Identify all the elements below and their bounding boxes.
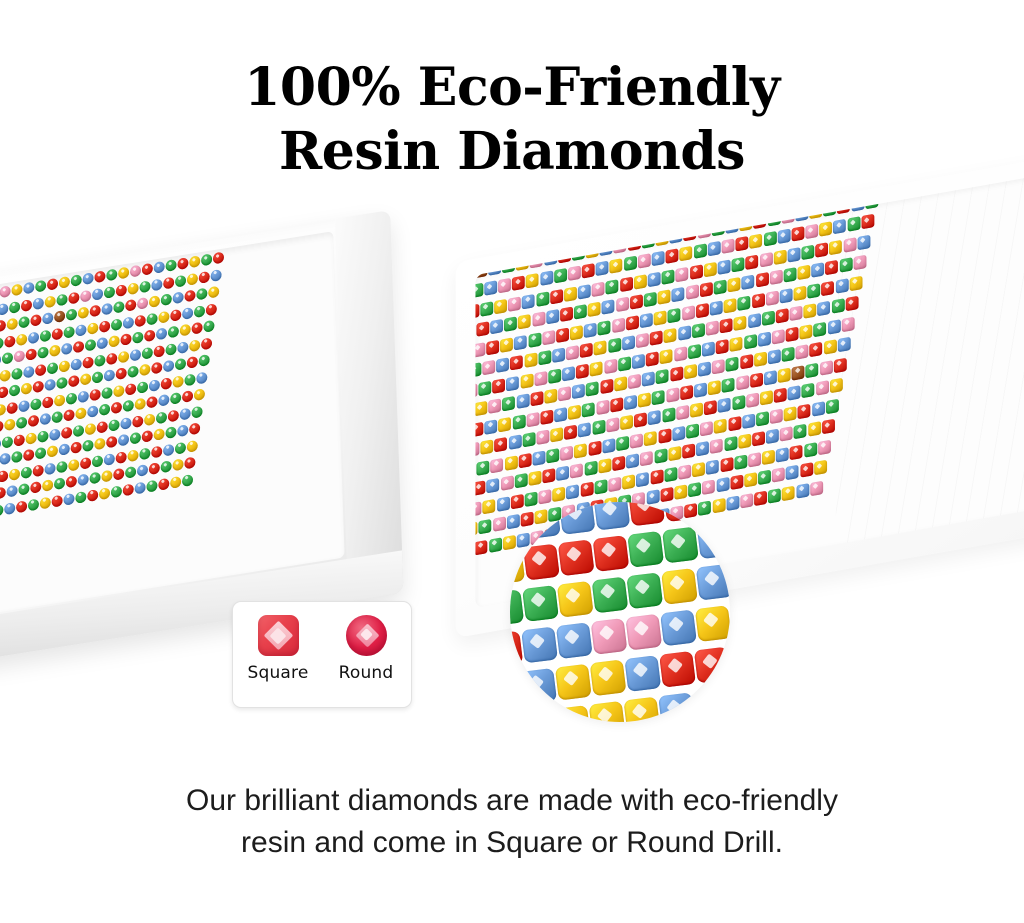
drill-pink bbox=[542, 330, 555, 345]
drill-yellow bbox=[505, 455, 518, 470]
drill-yellow bbox=[800, 324, 813, 339]
drill-yellow bbox=[553, 486, 566, 501]
drill-green bbox=[132, 331, 143, 344]
drill-yellow bbox=[45, 295, 56, 308]
drill-green bbox=[37, 346, 48, 359]
drill-yellow bbox=[557, 581, 594, 618]
drill-red bbox=[63, 409, 74, 422]
drill-yellow bbox=[526, 273, 539, 288]
drill-red bbox=[519, 709, 556, 722]
drill-yellow bbox=[94, 437, 105, 450]
drill-blue bbox=[71, 358, 82, 371]
drill-red bbox=[670, 366, 683, 381]
drill-yellow bbox=[730, 336, 743, 351]
drill-blue bbox=[780, 288, 793, 303]
drill-red bbox=[30, 481, 41, 494]
drill-yellow bbox=[574, 443, 587, 458]
drill-red bbox=[663, 502, 700, 522]
caption-line-2: resin and come in Square or Round Drill. bbox=[0, 822, 1024, 864]
drill-yellow bbox=[622, 474, 635, 489]
drill-yellow bbox=[481, 439, 494, 454]
drill-green bbox=[546, 448, 559, 463]
drill-blue bbox=[748, 313, 761, 328]
drill-yellow bbox=[40, 496, 51, 509]
drill-blue bbox=[44, 378, 55, 391]
drill-pink bbox=[805, 224, 818, 239]
drill-green bbox=[11, 367, 22, 380]
drill-green bbox=[47, 361, 58, 374]
drill-yellow bbox=[692, 461, 705, 476]
drill-pink bbox=[591, 618, 628, 655]
drill-yellow bbox=[762, 449, 775, 464]
drill-yellow bbox=[99, 487, 110, 500]
drill-pink bbox=[194, 231, 205, 234]
drill-blue bbox=[788, 385, 801, 400]
drill-red bbox=[116, 367, 127, 380]
drill-blue bbox=[506, 375, 519, 390]
drill-red bbox=[736, 236, 749, 251]
drill-pink bbox=[14, 350, 25, 363]
drill-green bbox=[502, 396, 515, 411]
drill-blue bbox=[594, 502, 631, 530]
drill-green bbox=[806, 362, 819, 377]
drill-yellow bbox=[4, 418, 15, 431]
drill-red bbox=[33, 380, 44, 393]
drill-green bbox=[168, 326, 179, 339]
drill-blue bbox=[182, 307, 193, 320]
drill-green bbox=[108, 418, 119, 431]
drill-green bbox=[592, 420, 605, 435]
drill-blue bbox=[812, 262, 825, 277]
drill-red bbox=[189, 422, 200, 435]
drill-yellow bbox=[620, 415, 633, 430]
drill-blue bbox=[508, 434, 521, 449]
drill-yellow bbox=[7, 318, 18, 331]
drill-yellow bbox=[518, 314, 531, 329]
drill-red bbox=[161, 377, 172, 390]
drill-blue bbox=[44, 462, 55, 475]
drill-yellow bbox=[139, 363, 150, 376]
drill-green bbox=[627, 531, 664, 568]
drill-blue bbox=[163, 443, 174, 456]
drill-blue bbox=[4, 502, 15, 515]
drill-type-legend: Square Round bbox=[232, 601, 412, 708]
drill-yellow bbox=[778, 367, 791, 382]
drill-blue bbox=[540, 270, 553, 285]
drill-blue bbox=[490, 319, 503, 334]
legend-label-square: Square bbox=[247, 663, 308, 683]
drill-red bbox=[47, 278, 58, 291]
drill-green bbox=[692, 323, 705, 338]
drill-red bbox=[149, 462, 160, 475]
drill-blue bbox=[151, 278, 162, 291]
drill-red bbox=[728, 416, 741, 431]
drill-red bbox=[146, 396, 157, 409]
drill-yellow bbox=[87, 322, 98, 335]
drill-red bbox=[475, 480, 485, 495]
drill-blue bbox=[101, 303, 112, 316]
drill-green bbox=[652, 389, 665, 404]
drill-green bbox=[694, 243, 707, 258]
drill-red bbox=[42, 396, 53, 409]
drill-pink bbox=[790, 306, 803, 321]
drill-red bbox=[68, 291, 79, 304]
drill-red bbox=[116, 451, 127, 464]
drill-green bbox=[92, 371, 103, 384]
drill-green bbox=[794, 424, 807, 439]
drill-green bbox=[4, 251, 15, 264]
drill-green bbox=[111, 485, 122, 498]
drill-green bbox=[814, 321, 827, 336]
drill-red bbox=[815, 242, 828, 257]
drill-pink bbox=[616, 297, 629, 312]
drill-red bbox=[628, 502, 665, 526]
drill-blue bbox=[698, 361, 711, 376]
drill-pink bbox=[0, 285, 11, 298]
drill-green bbox=[562, 227, 575, 242]
drill-blue bbox=[648, 271, 661, 286]
drill-green bbox=[784, 267, 797, 282]
drill-red bbox=[650, 469, 663, 484]
drill-red bbox=[674, 207, 687, 222]
drill-green bbox=[165, 343, 176, 356]
drill-yellow bbox=[610, 258, 623, 273]
drill-pink bbox=[722, 238, 735, 253]
drill-yellow bbox=[784, 406, 797, 421]
drill-yellow bbox=[113, 384, 124, 397]
drill-blue bbox=[652, 251, 665, 266]
drill-pink bbox=[770, 408, 783, 423]
drill-red bbox=[754, 490, 767, 505]
drill-red bbox=[97, 420, 108, 433]
drill-red bbox=[810, 342, 823, 357]
drill-yellow bbox=[760, 390, 773, 405]
drill-pink bbox=[608, 476, 621, 491]
drill-yellow bbox=[684, 364, 697, 379]
tray-groove-texture bbox=[836, 175, 1024, 545]
drill-blue bbox=[82, 272, 93, 285]
drill-pink bbox=[712, 359, 725, 374]
drill-green bbox=[489, 537, 502, 552]
drill-red bbox=[720, 318, 733, 333]
drill-red bbox=[475, 421, 483, 436]
drill-green bbox=[146, 479, 157, 492]
drill-blue bbox=[196, 371, 207, 384]
drill-green bbox=[714, 279, 727, 294]
legend-item-square: Square bbox=[247, 615, 309, 683]
drill-red bbox=[494, 437, 507, 452]
drill-blue bbox=[590, 222, 603, 237]
drill-yellow bbox=[750, 234, 763, 249]
drill-green bbox=[56, 293, 67, 306]
drill-green bbox=[624, 256, 637, 271]
drill-yellow bbox=[208, 286, 219, 299]
drill-blue bbox=[710, 300, 723, 315]
drill-green bbox=[480, 301, 493, 316]
drill-blue bbox=[63, 492, 74, 505]
drill-green bbox=[123, 399, 134, 412]
drill-red bbox=[151, 445, 162, 458]
drill-yellow bbox=[127, 449, 138, 462]
drill-red bbox=[23, 449, 34, 462]
drill-blue bbox=[478, 242, 491, 257]
drill-blue bbox=[0, 452, 11, 465]
drill-green bbox=[85, 339, 96, 352]
drill-pink bbox=[492, 239, 505, 254]
drill-yellow bbox=[668, 446, 681, 461]
drill-red bbox=[201, 337, 212, 350]
drill-red bbox=[690, 264, 703, 279]
drill-pink bbox=[736, 375, 749, 390]
drill-yellow bbox=[544, 389, 557, 404]
drill-blue bbox=[702, 202, 715, 217]
drill-green bbox=[801, 244, 814, 259]
drill-blue bbox=[566, 484, 579, 499]
drill-blue bbox=[522, 293, 535, 308]
drill-red bbox=[28, 415, 39, 428]
drill-yellow bbox=[813, 183, 826, 198]
drill-pink bbox=[743, 195, 756, 210]
drill-blue bbox=[49, 428, 60, 441]
drill-pink bbox=[628, 374, 641, 389]
drill-green bbox=[130, 432, 141, 445]
drill-yellow bbox=[664, 328, 677, 343]
drill-red bbox=[558, 539, 595, 576]
drill-blue bbox=[520, 668, 557, 705]
drill-yellow bbox=[570, 325, 583, 340]
drill-blue bbox=[118, 434, 129, 447]
drill-yellow bbox=[153, 428, 164, 441]
drill-blue bbox=[584, 322, 597, 337]
drill-red bbox=[576, 363, 589, 378]
drill-yellow bbox=[118, 267, 129, 280]
drill-yellow bbox=[187, 439, 198, 452]
drill-red bbox=[730, 475, 743, 490]
drill-red bbox=[158, 477, 169, 490]
drill-red bbox=[800, 462, 813, 477]
drill-yellow bbox=[109, 335, 120, 348]
drill-yellow bbox=[550, 427, 563, 442]
drill-green bbox=[75, 491, 86, 504]
drill-green bbox=[479, 519, 492, 534]
drill-green bbox=[82, 439, 93, 452]
drill-blue bbox=[602, 299, 615, 314]
drill-red bbox=[752, 293, 765, 308]
drill-green bbox=[768, 488, 781, 503]
drill-yellow bbox=[170, 476, 181, 489]
drill-pink bbox=[818, 439, 831, 454]
drill-blue bbox=[0, 354, 1, 367]
drill-blue bbox=[78, 473, 89, 486]
drill-blue bbox=[632, 353, 645, 368]
drill-blue bbox=[624, 394, 637, 409]
drill-green bbox=[804, 442, 817, 457]
drill-pink bbox=[558, 386, 571, 401]
drill-green bbox=[182, 474, 193, 487]
drill-green bbox=[662, 269, 675, 284]
drill-green bbox=[478, 380, 491, 395]
drill-blue bbox=[556, 466, 569, 481]
drill-green bbox=[73, 424, 84, 437]
drill-blue bbox=[154, 261, 165, 274]
drill-red bbox=[550, 289, 563, 304]
drill-pink bbox=[130, 265, 141, 278]
drill-green bbox=[582, 402, 595, 417]
drill-red bbox=[87, 489, 98, 502]
drill-yellow bbox=[644, 430, 657, 445]
drill-blue bbox=[622, 335, 635, 350]
drill-pink bbox=[606, 417, 619, 432]
drill-red bbox=[0, 386, 8, 399]
drill-red bbox=[530, 391, 543, 406]
drill-red bbox=[626, 315, 639, 330]
drill-green bbox=[94, 354, 105, 367]
drill-green bbox=[161, 460, 172, 473]
drill-pink bbox=[766, 290, 779, 305]
drill-red bbox=[151, 362, 162, 375]
drill-blue bbox=[130, 348, 141, 361]
drill-red bbox=[82, 356, 93, 369]
drill-green bbox=[656, 369, 669, 384]
drill-green bbox=[594, 479, 607, 494]
drill-yellow bbox=[623, 697, 660, 722]
drill-green bbox=[618, 356, 631, 371]
drill-blue bbox=[0, 302, 8, 315]
drill-green bbox=[504, 316, 517, 331]
drill-pink bbox=[676, 405, 689, 420]
drill-blue bbox=[28, 331, 39, 344]
drill-yellow bbox=[42, 479, 53, 492]
drill-yellow bbox=[49, 344, 60, 357]
drill-yellow bbox=[744, 472, 757, 487]
drill-red bbox=[630, 294, 643, 309]
drill-red bbox=[600, 379, 613, 394]
drill-yellow bbox=[555, 664, 592, 701]
drill-pink bbox=[491, 457, 504, 472]
drill-green bbox=[170, 392, 181, 405]
drill-green bbox=[626, 572, 663, 609]
drill-red bbox=[704, 400, 717, 415]
drill-blue bbox=[716, 477, 729, 492]
drill-yellow bbox=[688, 205, 701, 220]
drill-red bbox=[35, 363, 46, 376]
drill-pink bbox=[660, 210, 673, 225]
drill-green bbox=[2, 352, 13, 365]
square-gem-icon bbox=[258, 615, 299, 656]
drill-red bbox=[556, 327, 569, 342]
drill-yellow bbox=[118, 350, 129, 363]
drill-green bbox=[37, 430, 48, 443]
drill-blue bbox=[672, 425, 685, 440]
drill-yellow bbox=[661, 568, 698, 605]
drill-yellow bbox=[634, 274, 647, 289]
drill-yellow bbox=[734, 316, 747, 331]
drill-red bbox=[523, 544, 560, 581]
drill-blue bbox=[123, 316, 134, 329]
drill-blue bbox=[578, 422, 591, 437]
drill-yellow bbox=[590, 361, 603, 376]
drill-green bbox=[693, 688, 730, 722]
drill-red bbox=[90, 388, 101, 401]
drill-green bbox=[54, 477, 65, 490]
drill-red bbox=[182, 390, 193, 403]
drill-blue bbox=[6, 485, 17, 498]
drill-pink bbox=[475, 501, 481, 516]
drill-green bbox=[554, 268, 567, 283]
drill-green bbox=[199, 354, 210, 367]
drill-blue bbox=[104, 369, 115, 382]
drill-blue bbox=[596, 261, 609, 276]
drill-red bbox=[21, 299, 32, 312]
drill-red bbox=[756, 272, 769, 287]
drill-yellow bbox=[16, 333, 27, 346]
drill-red bbox=[729, 197, 742, 212]
drill-green bbox=[758, 470, 771, 485]
drill-red bbox=[582, 263, 595, 278]
drill-red bbox=[700, 282, 713, 297]
drill-yellow bbox=[674, 484, 687, 499]
drill-yellow bbox=[54, 394, 65, 407]
drill-green bbox=[165, 426, 176, 439]
drill-blue bbox=[75, 323, 86, 336]
drill-red bbox=[799, 185, 812, 200]
drill-blue bbox=[696, 564, 730, 601]
drill-red bbox=[660, 487, 673, 502]
drill-green bbox=[598, 320, 611, 335]
drill-red bbox=[154, 344, 165, 357]
drill-green bbox=[156, 411, 167, 424]
drill-pink bbox=[700, 420, 713, 435]
drill-yellow bbox=[614, 376, 627, 391]
drill-red bbox=[73, 341, 84, 354]
drill-red bbox=[476, 321, 489, 336]
drill-green bbox=[608, 338, 621, 353]
drill-pink bbox=[674, 346, 687, 361]
drill-yellow bbox=[75, 407, 86, 420]
drill-green bbox=[644, 292, 657, 307]
drill-red bbox=[14, 433, 25, 446]
drill-blue bbox=[177, 341, 188, 354]
drill-yellow bbox=[754, 352, 767, 367]
drill-pink bbox=[706, 320, 719, 335]
drill-red bbox=[132, 415, 143, 428]
drill-red bbox=[7, 401, 18, 414]
drill-yellow bbox=[654, 310, 667, 325]
drill-green bbox=[194, 305, 205, 318]
drill-pink bbox=[493, 516, 506, 531]
drill-pink bbox=[810, 480, 823, 495]
drill-yellow bbox=[78, 306, 89, 319]
drill-red bbox=[646, 351, 659, 366]
drill-red bbox=[650, 330, 663, 345]
drill-blue bbox=[23, 365, 34, 378]
drill-pink bbox=[676, 266, 689, 281]
drill-pink bbox=[475, 383, 477, 398]
drill-yellow bbox=[529, 471, 542, 486]
drill-yellow bbox=[128, 282, 139, 295]
drill-pink bbox=[498, 278, 511, 293]
drill-blue bbox=[18, 399, 29, 412]
drill-green bbox=[592, 577, 629, 614]
drill-green bbox=[52, 411, 63, 424]
drill-green bbox=[522, 585, 559, 622]
drill-red bbox=[666, 248, 679, 263]
drill-green bbox=[2, 435, 13, 448]
drill-green bbox=[734, 454, 747, 469]
drill-red bbox=[168, 409, 179, 422]
drill-blue bbox=[636, 471, 649, 486]
legend-label-round: Round bbox=[339, 663, 394, 683]
